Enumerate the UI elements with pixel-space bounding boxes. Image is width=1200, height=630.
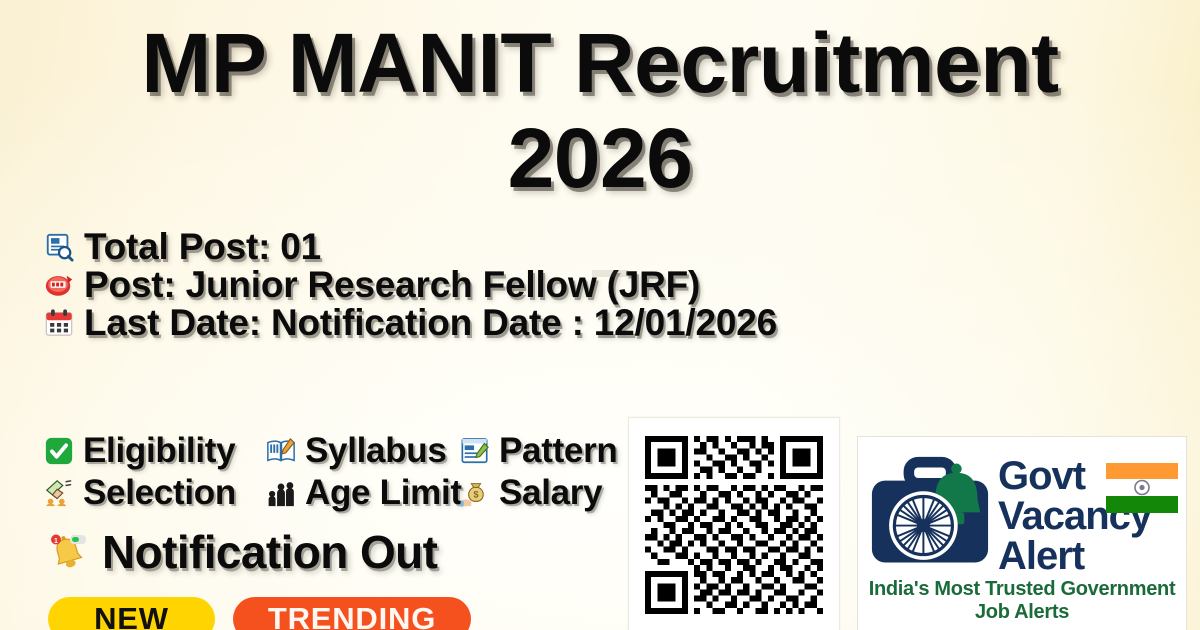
briefcase-chakra-bell-icon	[864, 449, 996, 581]
page-title: MP MANIT Recruitment 2026	[0, 16, 1200, 206]
calendar-icon	[44, 308, 74, 338]
feature-row-1: Eligibility Syllabus	[44, 430, 618, 472]
feature-row-2: Selection Age Limit $	[44, 472, 618, 514]
check-mark-icon	[44, 436, 74, 466]
status-badge-new[interactable]: NEW	[48, 597, 215, 630]
feature-pattern: Pattern	[460, 433, 618, 469]
detail-row-total-post: Total Post: 01	[44, 228, 777, 266]
india-flag-icon	[1106, 463, 1178, 513]
feature-label: Selection	[83, 475, 236, 511]
money-bag-icon: $	[460, 478, 490, 508]
recruitment-poster: MP MANIT Recruitment 2026 Total Post: 01	[0, 0, 1200, 630]
detail-row-post: Post: Junior Research Fellow (JRF)	[44, 266, 777, 304]
feature-selection: Selection	[44, 475, 266, 511]
feature-label: Pattern	[499, 433, 618, 469]
feature-label: Eligibility	[83, 433, 235, 469]
svg-text:1: 1	[54, 538, 58, 545]
document-search-icon	[44, 232, 74, 262]
brand-logo-card: Govt Vacancy Alert India's Most Trusted …	[857, 436, 1187, 630]
feature-salary: $ Salary	[460, 475, 602, 511]
exam-paper-icon	[460, 436, 490, 466]
new-badge-icon	[44, 270, 74, 300]
detail-row-last-date: Last Date: Notification Date : 12/01/202…	[44, 304, 777, 342]
title-line-1: MP MANIT Recruitment	[0, 16, 1200, 111]
detail-text: Last Date: Notification Date : 12/01/202…	[84, 304, 777, 342]
render-artifact	[592, 270, 628, 277]
title-line-2: 2026	[0, 111, 1200, 206]
brand-word-3: Alert	[998, 536, 1186, 576]
family-icon	[266, 478, 296, 508]
feature-label: Age Limit	[305, 475, 462, 511]
qr-code[interactable]	[645, 436, 823, 614]
feature-age-limit: Age Limit	[266, 475, 460, 511]
feature-label: Salary	[499, 475, 602, 511]
detail-text: Total Post: 01	[84, 228, 321, 266]
status-badge-trending[interactable]: TRENDING	[233, 597, 471, 630]
qr-code-card[interactable]	[628, 417, 840, 630]
logo-top-row: Govt Vacancy Alert	[858, 445, 1186, 585]
selection-icon	[44, 478, 74, 508]
badge-group: NEW TRENDING	[48, 597, 471, 630]
bell-icon: 1	[48, 532, 88, 572]
brand-tagline: India's Most Trusted Government Job Aler…	[858, 578, 1186, 624]
notification-label: Notification Out	[102, 528, 437, 576]
svg-text:$: $	[473, 490, 479, 500]
open-book-icon	[266, 436, 296, 466]
notification-status: 1 Notification Out	[48, 528, 437, 576]
feature-grid: Eligibility Syllabus	[44, 430, 618, 514]
details-list: Total Post: 01 Post: Junior Research Fel…	[44, 228, 777, 342]
feature-eligibility: Eligibility	[44, 433, 266, 469]
feature-syllabus: Syllabus	[266, 433, 460, 469]
feature-label: Syllabus	[305, 433, 447, 469]
